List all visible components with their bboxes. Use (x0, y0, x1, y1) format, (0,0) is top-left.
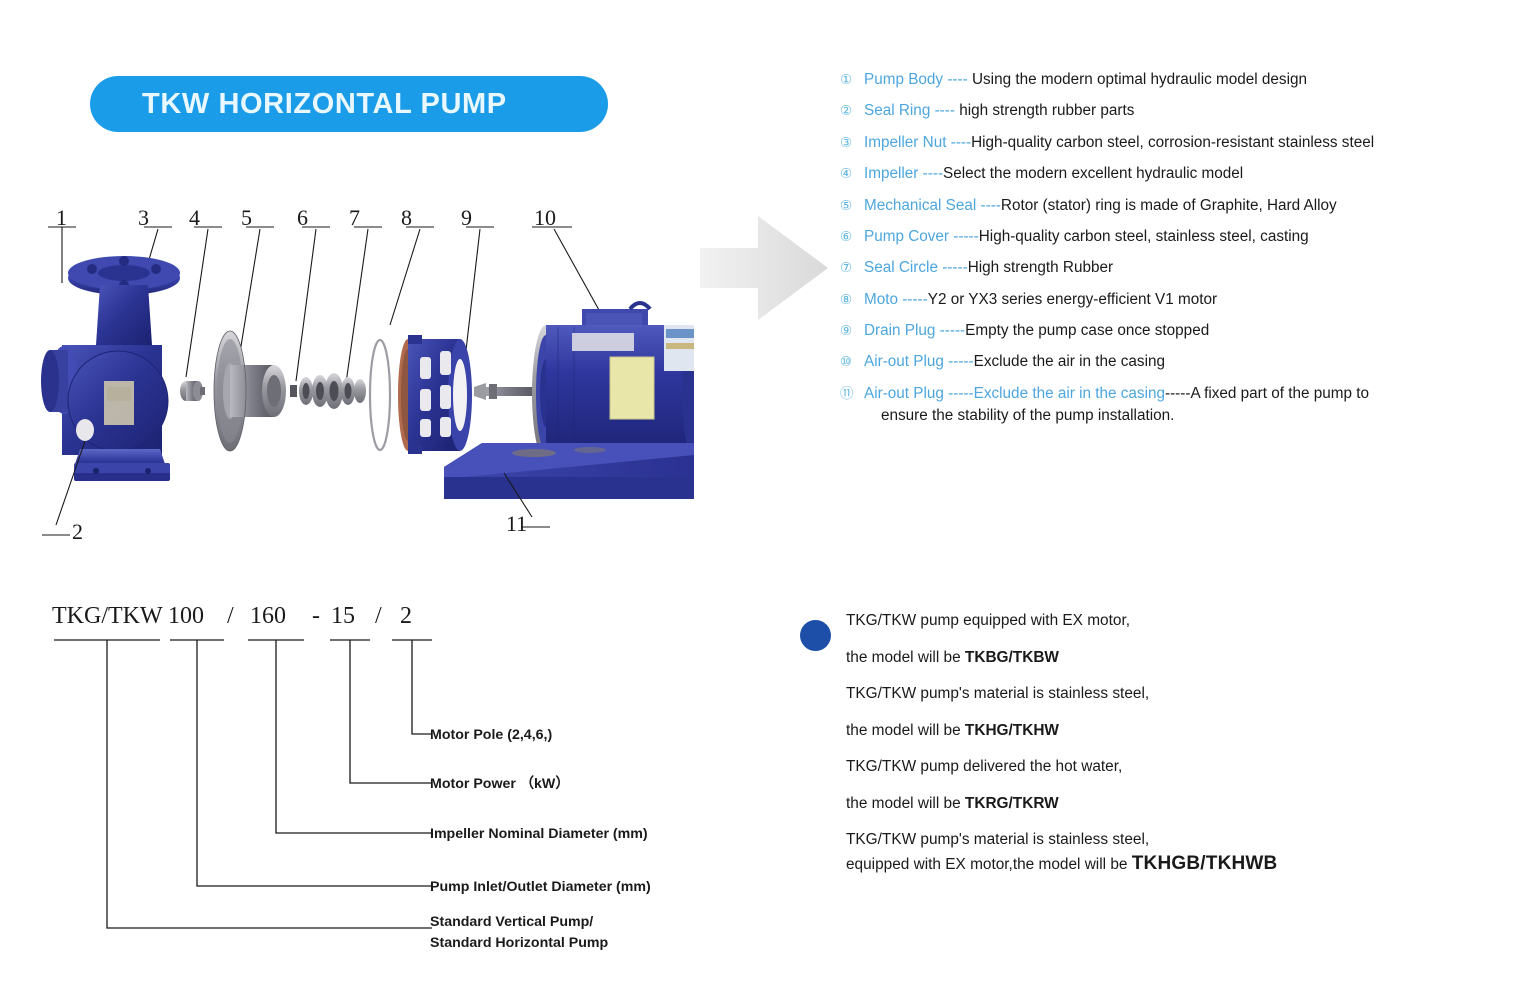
legend-body: Moto -----Y2 or YX3 series energy-effici… (864, 290, 1508, 310)
legend-number-icon: ⑦ (840, 258, 864, 277)
note-text: the model will be (846, 722, 965, 739)
note-line: TKG/TKW pump delivered the hot water, (846, 758, 1440, 776)
legend-number-icon: ③ (840, 133, 864, 152)
legend-body: Pump Body ---- Using the modern optimal … (864, 70, 1508, 90)
callout-number-8: 8 (401, 205, 412, 231)
legend-number-icon: ④ (840, 164, 864, 183)
legend-item: ⑤ Mechanical Seal ----Rotor (stator) rin… (840, 196, 1508, 216)
legend-separator: ----- (944, 385, 974, 402)
legend-description: Rotor (stator) ring is made of Graphite,… (1001, 197, 1337, 214)
legend-separator: ---- (918, 165, 943, 182)
legend-part-name: Pump Cover (864, 228, 949, 245)
model-label-standard-pump: Standard Vertical Pump/Standard Horizont… (430, 912, 608, 953)
note-line: the model will be TKRG/TKRW (846, 795, 1440, 813)
legend-separator: ----- (938, 259, 968, 276)
note-model-code: TKHG/TKHW (965, 722, 1059, 739)
legend-body: Impeller ----Select the modern excellent… (864, 164, 1508, 184)
note-model-code: TKRG/TKRW (965, 795, 1059, 812)
legend-description: Y2 or YX3 series energy-efficient V1 mot… (928, 291, 1217, 308)
callout-number-1: 1 (56, 205, 67, 231)
legend-description: Select the modern excellent hydraulic mo… (943, 165, 1243, 182)
note-text: TKG/TKW pump's material is stainless ste… (846, 685, 1149, 702)
note-text: TKG/TKW pump delivered the hot water, (846, 758, 1122, 775)
model-code-breakdown: TKG/TKW 100 / 160 - 15 / 2 (40, 595, 740, 975)
legend-body: Air-out Plug -----Exclude the air in the… (864, 384, 1508, 426)
legend-item: ① Pump Body ---- Using the modern optima… (840, 70, 1508, 90)
legend-part-name: Drain Plug (864, 322, 935, 339)
legend-number-icon: ⑤ (840, 196, 864, 215)
note-model-code: TKBG/TKBW (965, 649, 1059, 666)
model-label-line1: Standard Vertical Pump/ (430, 914, 593, 930)
legend-number-icon: ① (840, 70, 864, 89)
legend-number-icon: ⑧ (840, 290, 864, 309)
callout-number-2: 2 (72, 519, 83, 545)
legend-separator: ---- (976, 197, 1001, 214)
legend-separator: ---- (946, 134, 971, 151)
model-label-motor-pole: Motor Pole (2,4,6,) (430, 725, 552, 746)
note-line: TKG/TKW pump equipped with EX motor, (846, 612, 1440, 630)
legend-separator: ----- (949, 228, 979, 245)
callout-number-7: 7 (349, 205, 360, 231)
legend-part-name: Air-out Plug (864, 385, 944, 402)
legend-body: Seal Circle -----High strength Rubber (864, 258, 1508, 278)
legend-body: Pump Cover -----High-quality carbon stee… (864, 227, 1508, 247)
legend-number-icon: ⑥ (840, 227, 864, 246)
legend-description: High-quality carbon steel, corrosion-res… (971, 134, 1374, 151)
note-text: TKG/TKW pump equipped with EX motor, (846, 612, 1130, 629)
legend-item: ⑧ Moto -----Y2 or YX3 series energy-effi… (840, 290, 1508, 310)
legend-description: Empty the pump case once stopped (965, 322, 1209, 339)
callout-number-11: 11 (506, 511, 527, 537)
legend-separator: ----- (944, 353, 974, 370)
legend-description: Exclude the air in the casing (974, 353, 1165, 370)
legend-body: Mechanical Seal ----Rotor (stator) ring … (864, 196, 1508, 216)
legend-part-name: Pump Body (864, 71, 943, 88)
note-line: the model will be TKBG/TKBW (846, 649, 1440, 667)
bullet-dot-icon (800, 620, 831, 651)
legend-part-name: Impeller (864, 165, 918, 182)
callout-number-10: 10 (534, 205, 556, 231)
legend-separator: ---- (930, 102, 959, 119)
legend-description: High-quality carbon steel, stainless ste… (979, 228, 1309, 245)
legend-part-name: Impeller Nut (864, 134, 946, 151)
product-spec-sheet: TKW HORIZONTAL PUMP (0, 0, 1513, 1000)
legend-item: ⑥ Pump Cover -----High-quality carbon st… (840, 227, 1508, 247)
legend-part-name: Air-out Plug (864, 353, 944, 370)
legend-body: Impeller Nut ----High-quality carbon ste… (864, 133, 1508, 153)
legend-body: Air-out Plug -----Exclude the air in the… (864, 352, 1508, 372)
model-label-motor-power: Motor Power （kW） (430, 774, 570, 795)
legend-item: ⑦ Seal Circle -----High strength Rubber (840, 258, 1508, 278)
pump-illustration (34, 205, 694, 575)
legend-part-name: Moto (864, 291, 898, 308)
note-lines: TKG/TKW pump equipped with EX motor, the… (846, 612, 1440, 875)
parts-legend: ① Pump Body ---- Using the modern optima… (840, 70, 1508, 437)
legend-description: Using the modern optimal hydraulic model… (972, 71, 1307, 88)
legend-separator: ---- (943, 71, 972, 88)
legend-item: ③ Impeller Nut ----High-quality carbon s… (840, 133, 1508, 153)
legend-item: ④ Impeller ----Select the modern excelle… (840, 164, 1508, 184)
legend-description: high strength rubber parts (959, 102, 1134, 119)
model-bracket-lines (40, 595, 740, 975)
legend-description: -----A fixed part of the pump to (1165, 385, 1369, 402)
legend-part-name: Seal Circle (864, 259, 938, 276)
model-label-line2: Standard Horizontal Pump (430, 935, 608, 951)
legend-part-name: Mechanical Seal (864, 197, 976, 214)
callout-number-3: 3 (138, 205, 149, 231)
legend-item: ⑩ Air-out Plug -----Exclude the air in t… (840, 352, 1508, 372)
callout-number-6: 6 (297, 205, 308, 231)
legend-number-icon: ⑩ (840, 352, 864, 371)
legend-body: Seal Ring ---- high strength rubber part… (864, 101, 1508, 121)
callout-number-9: 9 (461, 205, 472, 231)
legend-description: High strength Rubber (968, 259, 1113, 276)
model-label-inlet-dia: Pump Inlet/Outlet Diameter (mm) (430, 877, 651, 898)
note-text: equipped with EX motor,the model will be (846, 856, 1132, 873)
legend-part-name: Seal Ring (864, 102, 930, 119)
exploded-pump-diagram: 1 3 4 5 6 7 8 9 10 2 11 (34, 205, 694, 575)
title-banner: TKW HORIZONTAL PUMP (90, 76, 608, 132)
legend-body: Drain Plug -----Empty the pump case once… (864, 321, 1508, 341)
legend-number-icon: ⑨ (840, 321, 864, 340)
legend-number-icon: ② (840, 101, 864, 120)
legend-separator: ----- (898, 291, 928, 308)
legend-item: ② Seal Ring ---- high strength rubber pa… (840, 101, 1508, 121)
legend-item: ⑨ Drain Plug -----Empty the pump case on… (840, 321, 1508, 341)
note-line: the model will be TKHG/TKHW (846, 722, 1440, 740)
note-text: the model will be (846, 795, 965, 812)
legend-separator: ----- (935, 322, 965, 339)
legend-number-icon: ⑪ (840, 384, 864, 403)
note-line: TKG/TKW pump's material is stainless ste… (846, 831, 1440, 849)
page-title: TKW HORIZONTAL PUMP (142, 88, 507, 121)
note-line: TKG/TKW pump's material is stainless ste… (846, 685, 1440, 703)
note-line: equipped with EX motor,the model will be… (846, 853, 1440, 875)
callout-number-4: 4 (189, 205, 200, 231)
callout-number-5: 5 (241, 205, 252, 231)
model-label-impeller-dia: Impeller Nominal Diameter (mm) (430, 824, 648, 845)
note-model-code: TKHGB/TKHWB (1132, 853, 1278, 874)
legend-description-continued: ensure the stability of the pump install… (864, 406, 1508, 426)
model-variant-notes: TKG/TKW pump equipped with EX motor, the… (800, 612, 1440, 894)
note-text: TKG/TKW pump's material is stainless ste… (846, 831, 1149, 848)
legend-item: ⑪ Air-out Plug -----Exclude the air in t… (840, 384, 1508, 426)
right-arrow-icon (700, 212, 852, 324)
legend-description-blue: Exclude the air in the casing (974, 385, 1165, 402)
note-text: the model will be (846, 649, 965, 666)
